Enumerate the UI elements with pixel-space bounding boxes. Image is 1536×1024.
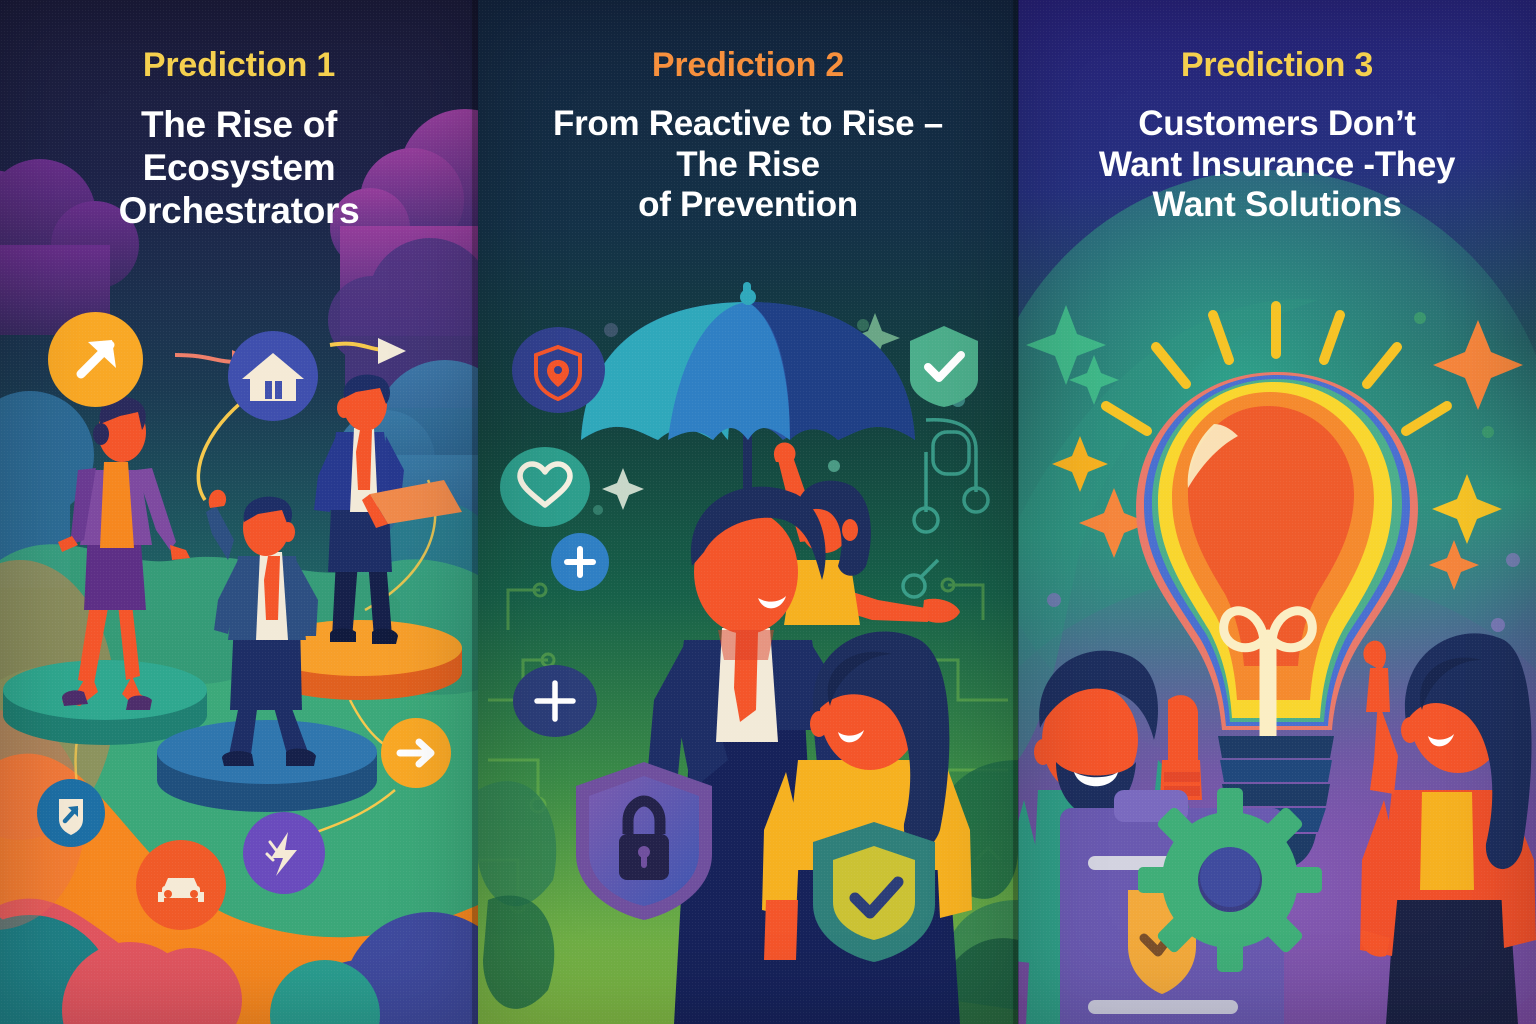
arrow-right-outline-icon [381, 718, 451, 788]
panel-3-kicker: Prediction 3 [1018, 48, 1536, 82]
infographic-stage: Prediction 1 The Rise of Ecosystem Orche… [0, 0, 1536, 1024]
car-icon [136, 840, 226, 930]
panel-3-title-line-1: Customers Don’t [1026, 104, 1528, 145]
panel-1-heading: Prediction 1 The Rise of Ecosystem Orche… [0, 0, 478, 233]
arrow-up-right-icon [48, 312, 143, 407]
figure-man-laptop [314, 375, 462, 644]
panel-prediction-1: Prediction 1 The Rise of Ecosystem Orche… [0, 0, 478, 1024]
shield-arrow-icon [37, 779, 105, 847]
hexagon-check-icon [906, 323, 982, 409]
shield-location-pin-icon [512, 327, 605, 413]
panel-3-title-line-2: Want Insurance -They [1026, 145, 1528, 186]
panel-prediction-2: Prediction 2 From Reactive to Rise – The… [478, 0, 1018, 1024]
lightning-bolt-icon [243, 812, 325, 894]
panel-2-title-line-2: The Rise [496, 145, 1000, 186]
gear-icon [1138, 788, 1322, 972]
heart-icon [500, 447, 590, 527]
panel-3-title-line-3: Want Solutions [1026, 185, 1528, 226]
panel-1-title-line-3: Orchestrators [18, 190, 460, 233]
plus-icon-large [513, 665, 597, 737]
figure-child [774, 442, 960, 625]
panel-2-heading: Prediction 2 From Reactive to Rise – The… [478, 0, 1018, 226]
panel-1-kicker: Prediction 1 [0, 48, 478, 82]
panel-1-title: The Rise of Ecosystem Orchestrators [0, 104, 478, 233]
panel-2-kicker: Prediction 2 [478, 48, 1018, 82]
figure-woman-pointing [1360, 633, 1536, 1024]
panel-prediction-3: Prediction 3 Customers Don’t Want Insura… [1018, 0, 1536, 1024]
panel-2-title: From Reactive to Rise – The Rise of Prev… [478, 104, 1018, 226]
shield-check-icon [808, 818, 940, 964]
panel-3-heading: Prediction 3 Customers Don’t Want Insura… [1018, 0, 1536, 226]
panel-2-title-line-1: From Reactive to Rise – [496, 104, 1000, 145]
plus-icon-small [551, 533, 609, 591]
house-icon [228, 331, 318, 421]
panel-3-title: Customers Don’t Want Insurance -They Wan… [1018, 104, 1536, 226]
panel-1-title-line-2: Ecosystem [18, 147, 460, 190]
shield-lock-icon [571, 758, 718, 924]
panel-1-title-line-1: The Rise of [18, 104, 460, 147]
panel-2-title-line-3: of Prevention [496, 185, 1000, 226]
